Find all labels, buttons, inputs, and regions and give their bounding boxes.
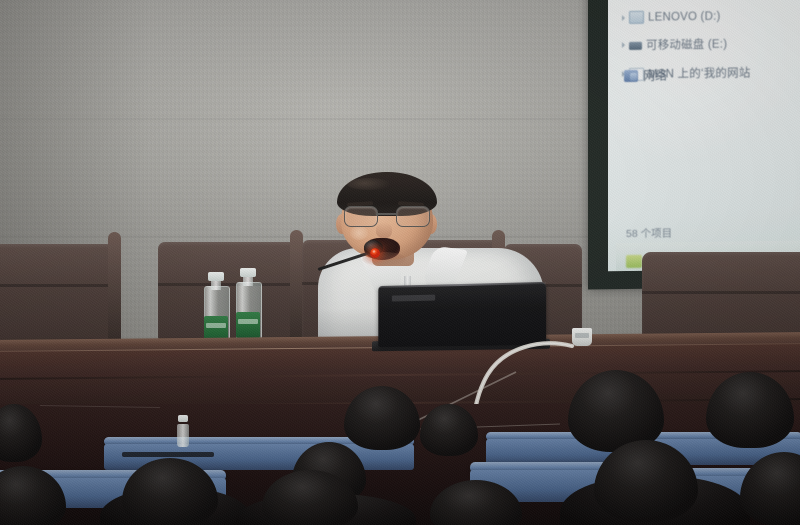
bottle-cap [208, 272, 224, 281]
audience-desk-item [122, 452, 214, 457]
bottle-label [236, 312, 260, 338]
glasses-bridge [376, 213, 397, 215]
microphone-led-icon [370, 248, 380, 258]
bottle-body [177, 424, 189, 447]
tree-item-network[interactable]: 网络 [624, 66, 667, 84]
tree-item-lenovo-d[interactable]: LENOVO (D:) [622, 9, 800, 25]
chevron-right-icon[interactable] [622, 15, 625, 21]
photo-scene: LENOVO (D:) 可移动磁盘 (E:) MSN 上的‘我的网站 网络 58… [0, 0, 800, 525]
usb-drive-icon [629, 42, 642, 50]
bottle-cap [178, 415, 188, 422]
cheek-highlight [350, 226, 368, 240]
chevron-right-icon[interactable] [622, 42, 625, 48]
chair-back-far-left [0, 244, 114, 340]
hard-drive-icon [629, 11, 644, 24]
audience-water-bottle[interactable] [176, 415, 190, 447]
chair-arm [108, 232, 121, 340]
bottle-cap [240, 268, 256, 277]
tree-item-label: 网络 [643, 66, 667, 83]
nose [376, 222, 392, 238]
overhead-wire [40, 405, 160, 408]
laptop-logo [392, 295, 435, 302]
projection-surface: LENOVO (D:) 可移动磁盘 (E:) MSN 上的‘我的网站 网络 58… [608, 0, 800, 271]
thumbnail-item[interactable] [626, 255, 642, 268]
explorer-status-bar: 58 个项目 [626, 225, 672, 241]
projection-screen: LENOVO (D:) 可移动磁盘 (E:) MSN 上的‘我的网站 网络 58… [588, 0, 800, 290]
chair-back-far-right [642, 252, 800, 344]
lens-left [344, 206, 378, 227]
lens-right [396, 206, 430, 227]
tree-item-label: 可移动磁盘 (E:) [646, 36, 727, 53]
tree-item-label: LENOVO (D:) [648, 10, 721, 23]
tree-item-removable-e[interactable]: 可移动磁盘 (E:) [622, 35, 800, 54]
network-icon [624, 69, 638, 81]
